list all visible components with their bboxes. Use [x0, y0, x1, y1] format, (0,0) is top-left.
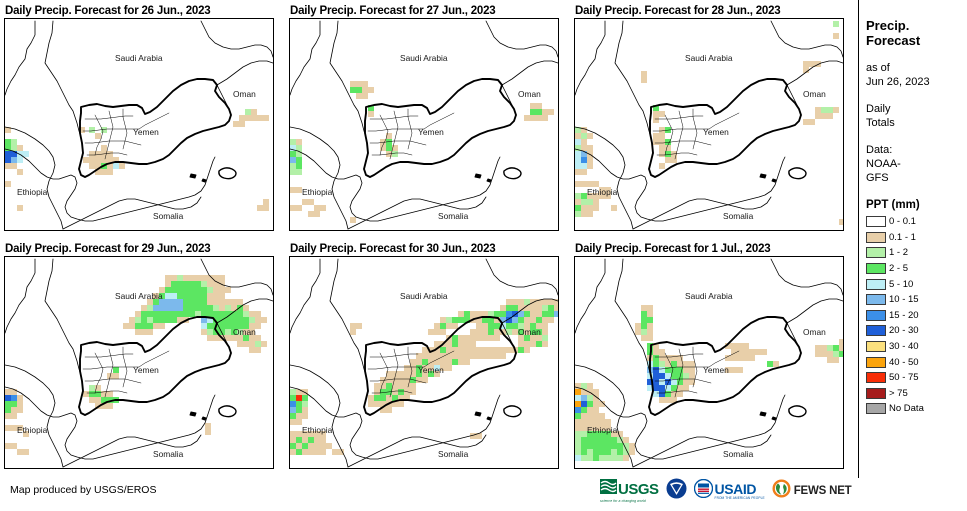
somalia-border [348, 435, 486, 467]
yemen-admin-boundaries [653, 109, 739, 159]
legend-label-4: 5 - 10 [889, 279, 913, 290]
yemen-admin-boundaries [83, 347, 169, 397]
usgs-tagline: science for a changing world [600, 499, 646, 503]
legend-swatch-0 [866, 216, 886, 227]
sidebar-title-line2: Forecast [866, 33, 967, 48]
legend-row-7: 20 - 30 [866, 323, 967, 339]
forecast-panel-5: Daily Precip. Forecast for 30 Jun., 2023… [285, 242, 559, 469]
totals-block: Daily Totals [866, 102, 967, 130]
legend-row-0: 0 - 0.1 [866, 214, 967, 230]
map-canvas-5[interactable]: Saudi ArabiaOmanYemenEthiopiaSomalia [289, 256, 559, 469]
legend-swatch-6 [866, 310, 886, 321]
legend-sidebar: Precip. Forecast as of Jun 26, 2023 Dail… [858, 0, 967, 478]
legend-row-5: 10 - 15 [866, 292, 967, 308]
map-vector-layer-6 [575, 257, 844, 469]
panel-title-4: Daily Precip. Forecast for 29 Jun., 2023 [0, 242, 274, 256]
legend-label-0: 0 - 0.1 [889, 216, 916, 227]
legend-swatch-2 [866, 247, 886, 258]
legend-swatch-5 [866, 294, 886, 305]
fews-globe-icon [772, 479, 791, 503]
as-of-label: as of [866, 61, 967, 75]
socotra-island [789, 168, 806, 179]
legend-class-list: 0 - 0.10.1 - 11 - 22 - 55 - 1010 - 1515 … [866, 214, 967, 417]
precip-raster-layer [290, 81, 554, 223]
coastline-west [5, 259, 81, 375]
coastline-west [290, 259, 366, 375]
agency-logo-strip: USGS science for a changing world [600, 478, 852, 504]
precip-forecast-map-sheet: Daily Precip. Forecast for 26 Jun., 2023… [0, 0, 967, 511]
usgs-logo[interactable]: USGS science for a changing world [600, 479, 659, 503]
legend-label-7: 20 - 30 [889, 325, 919, 336]
small-islands [190, 174, 206, 182]
socotra-island [219, 406, 236, 417]
map-credit: Map produced by USGS/EROS [10, 484, 156, 496]
precip-raster-layer [575, 21, 844, 225]
legend-label-1: 0.1 - 1 [889, 232, 916, 243]
precip-raster-layer [5, 109, 269, 211]
panel-title-2: Daily Precip. Forecast for 27 Jun., 2023 [285, 4, 559, 18]
saudi-oman-border [201, 21, 273, 115]
data-source-line2: NOAA- [866, 157, 967, 171]
coastline-west [575, 259, 651, 375]
sidebar-title: Precip. Forecast [866, 18, 967, 48]
legend-swatch-9 [866, 357, 886, 368]
legend-label-10: 50 - 75 [889, 372, 919, 383]
coastline-west [5, 21, 81, 137]
data-source-block: Data: NOAA- GFS [866, 143, 967, 185]
panel-title-3: Daily Precip. Forecast for 28 Jun., 2023 [570, 4, 844, 18]
somalia-border [348, 197, 486, 229]
saudi-oman-border [486, 21, 558, 115]
horn-of-africa-coast [575, 149, 785, 221]
coastline-west [290, 21, 366, 137]
legend-row-9: 40 - 50 [866, 354, 967, 370]
socotra-island [504, 406, 521, 417]
forecast-panel-2: Daily Precip. Forecast for 27 Jun., 2023… [285, 4, 559, 231]
legend-swatch-3 [866, 263, 886, 274]
map-vector-layer-2 [290, 19, 559, 231]
legend-swatch-8 [866, 341, 886, 352]
forecast-panel-4: Daily Precip. Forecast for 29 Jun., 2023… [0, 242, 274, 469]
precip-raster-layer [5, 275, 267, 455]
legend-label-3: 2 - 5 [889, 263, 908, 274]
legend-label-5: 10 - 15 [889, 294, 919, 305]
legend-row-10: 50 - 75 [866, 370, 967, 386]
map-vector-layer-3 [575, 19, 844, 231]
map-panel-grid: Daily Precip. Forecast for 26 Jun., 2023… [0, 0, 855, 478]
legend-swatch-12 [866, 403, 886, 414]
fews-net-wordmark: FEWS NET [794, 485, 852, 497]
legend-row-4: 5 - 10 [866, 276, 967, 292]
map-canvas-1[interactable]: Saudi ArabiaOmanYemenEthiopiaSomalia [4, 18, 274, 231]
map-vector-layer-4 [5, 257, 274, 469]
legend-row-8: 30 - 40 [866, 339, 967, 355]
legend-swatch-11 [866, 388, 886, 399]
totals-line1: Daily [866, 102, 967, 116]
yemen-national-border [364, 79, 516, 177]
legend-label-11: > 75 [889, 388, 908, 399]
usgs-wave-icon [600, 479, 617, 499]
legend-label-6: 15 - 20 [889, 310, 919, 321]
map-vector-layer-5 [290, 257, 559, 469]
coastline-west [575, 21, 651, 137]
panel-title-5: Daily Precip. Forecast for 30 Jun., 2023 [285, 242, 559, 256]
precip-raster-layer [575, 305, 844, 461]
sidebar-title-line1: Precip. [866, 18, 967, 33]
saudi-oman-border [771, 259, 843, 353]
map-canvas-4[interactable]: Saudi ArabiaOmanYemenEthiopiaSomalia [4, 256, 274, 469]
as-of-block: as of Jun 26, 2023 [866, 61, 967, 89]
legend-label-9: 40 - 50 [889, 357, 919, 368]
legend-row-6: 15 - 20 [866, 308, 967, 324]
socotra-island [504, 168, 521, 179]
legend-row-12: No Data [866, 401, 967, 417]
somalia-border [633, 435, 771, 467]
legend-row-11: > 75 [866, 386, 967, 402]
map-canvas-3[interactable]: Saudi ArabiaOmanYemenEthiopiaSomalia [574, 18, 844, 231]
usgs-wordmark: USGS [618, 482, 659, 497]
usaid-tagline: FROM THE AMERICAN PEOPLE [715, 496, 765, 500]
noaa-logo[interactable] [666, 478, 687, 504]
panel-title-6: Daily Precip. Forecast for 1 Jul., 2023 [570, 242, 844, 256]
legend-label-12: No Data [889, 403, 924, 414]
small-islands [760, 174, 776, 182]
usaid-logo[interactable]: USAID FROM THE AMERICAN PEOPLE [694, 479, 765, 503]
legend-swatch-10 [866, 372, 886, 383]
precip-raster-layer [290, 299, 559, 455]
as-of-date: Jun 26, 2023 [866, 75, 967, 89]
legend-swatch-1 [866, 232, 886, 243]
small-islands [190, 412, 206, 420]
socotra-island [219, 168, 236, 179]
small-islands [760, 412, 776, 420]
map-vector-layer-1 [5, 19, 274, 231]
legend-title: PPT (mm) [866, 199, 967, 211]
small-islands [475, 412, 491, 420]
map-canvas-6[interactable]: Saudi ArabiaOmanYemenEthiopiaSomalia [574, 256, 844, 469]
somalia-border [633, 197, 771, 229]
usaid-wordmark: USAID [715, 482, 757, 496]
somalia-border [63, 435, 201, 467]
map-canvas-2[interactable]: Saudi ArabiaOmanYemenEthiopiaSomalia [289, 18, 559, 231]
data-source-label: Data: [866, 143, 967, 157]
fews-net-logo[interactable]: FEWS NET [772, 479, 852, 503]
totals-line2: Totals [866, 116, 967, 130]
yemen-admin-boundaries [368, 109, 454, 159]
legend-swatch-4 [866, 279, 886, 290]
legend-row-1: 0.1 - 1 [866, 230, 967, 246]
somalia-border [63, 197, 201, 229]
legend-row-3: 2 - 5 [866, 261, 967, 277]
panel-title-1: Daily Precip. Forecast for 26 Jun., 2023 [0, 4, 274, 18]
forecast-panel-3: Daily Precip. Forecast for 28 Jun., 2023… [570, 4, 844, 231]
forecast-panel-1: Daily Precip. Forecast for 26 Jun., 2023… [0, 4, 274, 231]
small-islands [475, 174, 491, 182]
forecast-panel-6: Daily Precip. Forecast for 1 Jul., 2023S… [570, 242, 844, 469]
data-source-line3: GFS [866, 171, 967, 185]
socotra-island [789, 406, 806, 417]
usaid-seal-icon [694, 479, 713, 503]
legend-label-8: 30 - 40 [889, 341, 919, 352]
legend-row-2: 1 - 2 [866, 245, 967, 261]
legend-swatch-7 [866, 325, 886, 336]
legend-label-2: 1 - 2 [889, 247, 908, 258]
